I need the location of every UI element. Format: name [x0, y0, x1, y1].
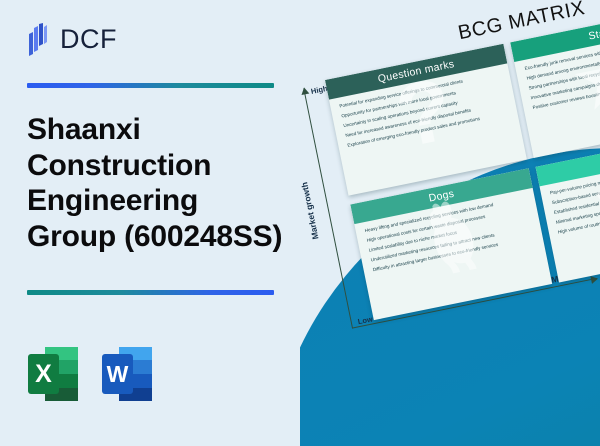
page-title: Shaanxi Construction Engineering Group (… — [27, 112, 295, 255]
dcf-bars-logo-icon — [27, 23, 53, 56]
file-format-icons: X W — [28, 345, 152, 403]
svg-text:W: W — [107, 361, 129, 387]
divider-bottom — [27, 290, 274, 295]
title-panel: DCF Shaanxi Construction Engineering Gro… — [0, 0, 310, 446]
excel-file-icon[interactable]: X — [28, 345, 78, 403]
svg-text:X: X — [35, 360, 52, 388]
quadrant-question-marks[interactable]: Question marks ? Potential for expanding… — [325, 44, 527, 196]
divider-top — [27, 83, 274, 88]
slide-canvas: BCG MATRIX High Low Market growth Market… — [0, 0, 600, 446]
bcg-matrix-graphic: BCG MATRIX High Low Market growth Market… — [300, 0, 600, 446]
brand-name: DCF — [60, 26, 117, 53]
word-file-icon[interactable]: W — [102, 345, 152, 403]
brand-logo[interactable]: DCF — [27, 23, 117, 56]
quadrant-dogs[interactable]: Dogs Heavy lifting and specialized recyc… — [350, 168, 552, 320]
matrix-rotated-group: BCG MATRIX High Low Market growth Market… — [300, 0, 600, 446]
